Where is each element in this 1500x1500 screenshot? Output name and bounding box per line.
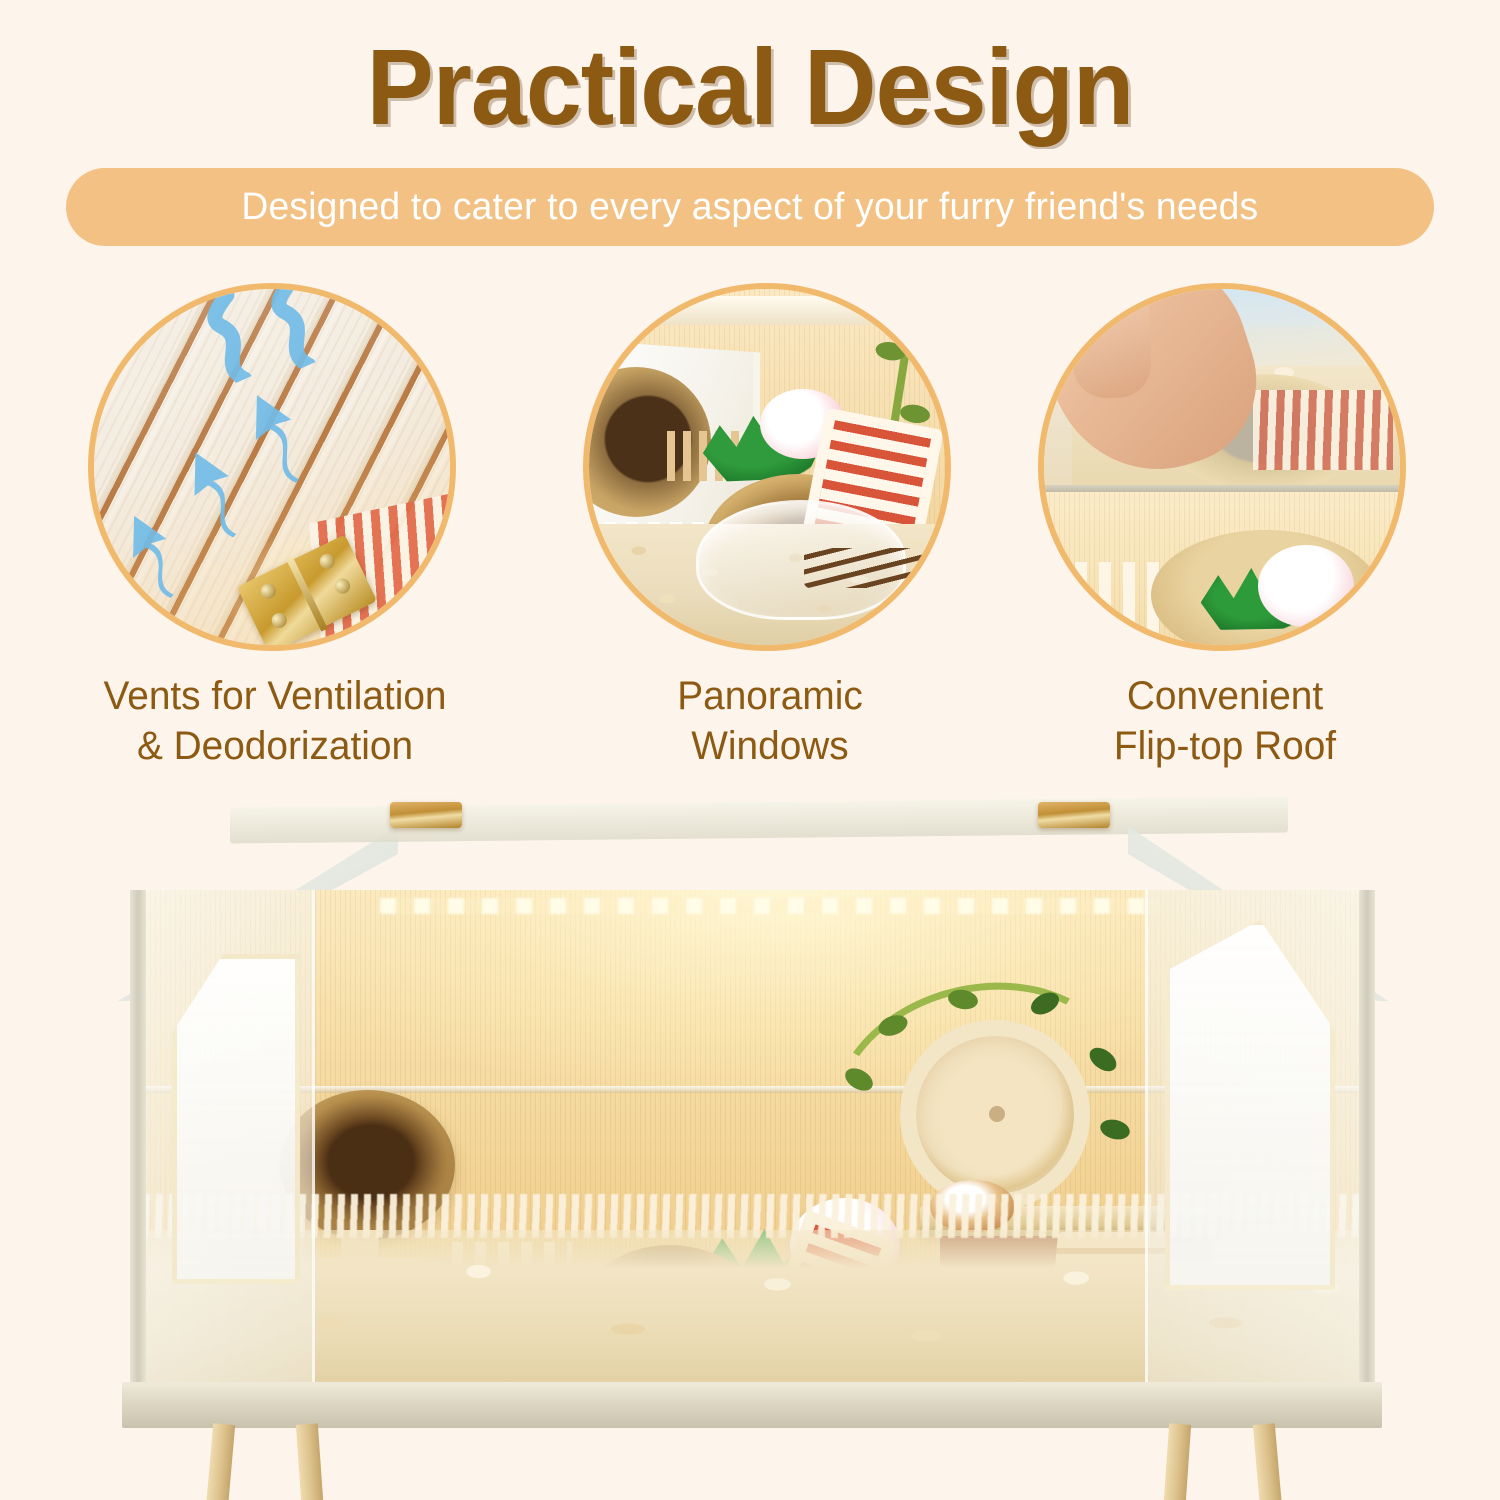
exercise-wheel [900,1020,1090,1210]
chew-twigs [804,548,924,588]
feature-image-panoramic-windows [583,283,951,651]
caption-line-1: Panoramic [589,671,952,721]
feature-caption-panoramic-windows: Panoramic Windows [589,671,952,772]
caption-line-1: Convenient [1044,671,1407,721]
subtitle-pill: Designed to cater to every aspect of you… [66,168,1434,246]
brass-hinge-icon [390,802,462,828]
feature-item-flip-top-roof: Convenient Flip-top Roof [1038,283,1412,772]
product-photo [0,770,1500,1500]
pink-flower-decor [1258,545,1354,627]
feature-image-flip-top-roof [1038,283,1406,651]
frame-post [130,890,146,1390]
brass-hinge-icon [1038,802,1110,828]
cage-base-frame [122,1382,1382,1428]
feature-item-panoramic-windows: Panoramic Windows [583,283,957,772]
frame-post [1359,890,1375,1390]
caption-line-2: & Deodorization [94,721,457,771]
feature-list: Vents for Ventilation & Deodorization [0,283,1500,773]
red-ladder [1253,390,1393,470]
feature-item-ventilation: Vents for Ventilation & Deodorization [88,283,462,772]
cage-leg [1253,1423,1285,1500]
cage-leg [203,1423,235,1500]
promo-page: Practical Design Designed to cater to ev… [0,0,1500,1500]
page-title: Practical Design [53,30,1448,144]
cage-interior [130,890,1375,1390]
feature-caption-ventilation: Vents for Ventilation & Deodorization [94,671,457,772]
caption-line-2: Flip-top Roof [1044,721,1407,771]
cage-leg [1161,1423,1191,1500]
lifted-roof-view [1044,289,1400,492]
led-strip-light [380,898,1160,914]
cage-lower-compartment [1044,492,1400,645]
caption-line-2: Windows [589,721,952,771]
feature-image-ventilation [88,283,456,651]
top-shelf [589,296,945,324]
subtitle-text: Designed to cater to every aspect of you… [242,186,1259,229]
caption-line-1: Vents for Ventilation [94,671,457,721]
feature-caption-flip-top-roof: Convenient Flip-top Roof [1044,671,1407,772]
cage-leg [296,1423,326,1500]
